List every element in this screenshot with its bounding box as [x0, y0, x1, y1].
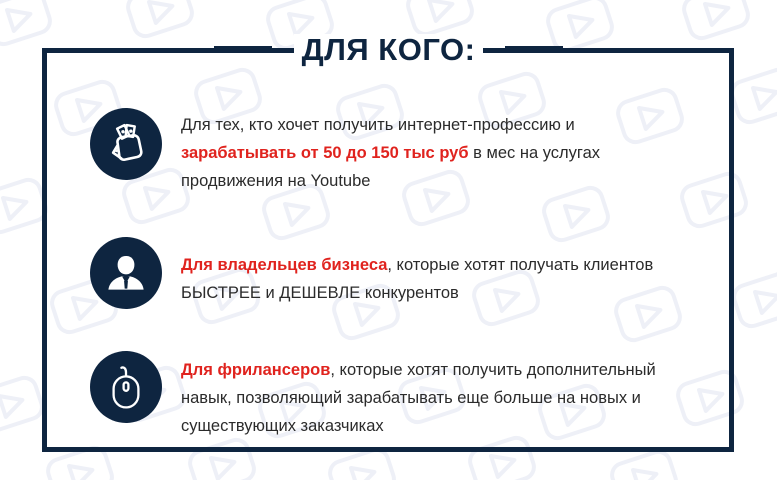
list-item-text: Для владельцев бизнеса, которые хотят по… [181, 237, 690, 307]
title-dash-left [214, 46, 272, 52]
businessman-icon [90, 237, 162, 309]
hand-holding-money-icon [90, 108, 162, 180]
list-item-text: Для тех, кто хочет получить интернет-про… [181, 108, 690, 195]
list-item: Для тех, кто хочет получить интернет-про… [90, 108, 690, 195]
computer-mouse-icon [90, 351, 162, 423]
list-item: Для фрилансеров, которые хотят получить … [90, 351, 690, 440]
slide-root: ДЛЯ КОГО: [0, 0, 777, 480]
title-dash-right [505, 46, 563, 52]
page-title-text: ДЛЯ КОГО: [294, 34, 484, 65]
text-segment-highlight: зарабатывать от 50 до 150 тыс руб [181, 144, 469, 162]
text-segment-highlight: Для фрилансеров [181, 361, 330, 379]
text-segment: Для тех, кто хочет получить интернет-про… [181, 116, 575, 134]
audience-list: Для тех, кто хочет получить интернет-про… [90, 108, 690, 440]
list-item: Для владельцев бизнеса, которые хотят по… [90, 237, 690, 309]
text-segment-highlight: Для владельцев бизнеса [181, 256, 387, 274]
list-item-text: Для фрилансеров, которые хотят получить … [181, 351, 690, 440]
page-title: ДЛЯ КОГО: [0, 27, 777, 71]
